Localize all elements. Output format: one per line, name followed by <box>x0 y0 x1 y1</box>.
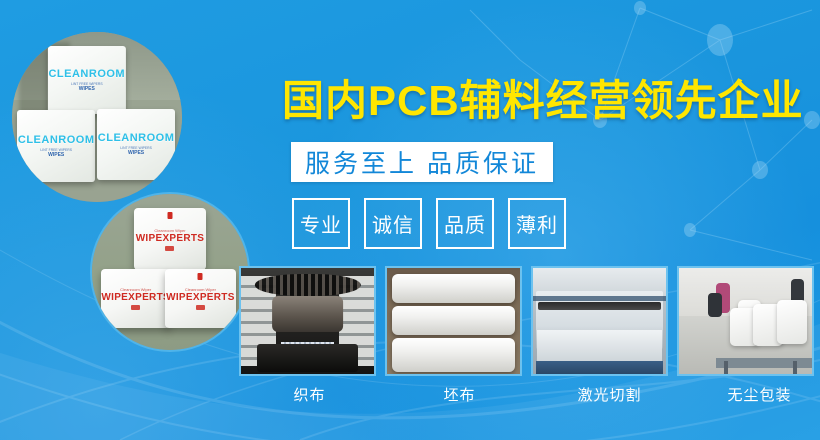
pack-line2: WIPES <box>128 150 144 156</box>
caption-cleanroom-packing: 无尘包装 <box>689 384 820 405</box>
fabric-roll <box>392 338 514 372</box>
banner-headline: 国内PCB辅料经营领先企业 <box>282 74 782 128</box>
pack-line2: WIPES <box>79 86 95 92</box>
pack-brand: CLEANROOM <box>18 134 95 146</box>
wipe-pack: Cleanroom Wiper WIPEXPERTS <box>165 269 235 328</box>
table-leg <box>724 361 728 374</box>
feature-tag-integrity: 诚信 <box>364 198 422 249</box>
pack-brand: CLEANROOM <box>98 132 175 144</box>
pack-logo <box>165 246 174 251</box>
promo-banner: CLEANROOM LINT FREE WIPERS WIPES CLEANRO… <box>0 0 820 440</box>
pack-top-line: Cleanroom Wiper <box>154 228 185 233</box>
caption-greige-fabric: 坯布 <box>389 384 530 405</box>
process-photo-knitting <box>239 266 376 376</box>
packing-scene <box>679 268 812 374</box>
wipe-pack: Cleanroom Wiper WIPEXPERTS <box>134 208 206 270</box>
pack-seal <box>198 273 203 280</box>
cutting-bed <box>537 330 662 366</box>
banner-subtitle-bar: 服务至上 品质保证 <box>291 142 553 182</box>
knitting-machine-scene <box>241 268 374 374</box>
pack-logo <box>196 305 205 310</box>
machine-legs <box>536 361 664 374</box>
process-photo-strip <box>239 266 814 376</box>
caption-laser-cutting: 激光切割 <box>539 384 680 405</box>
product-photo-cleanroom-wipes: CLEANROOM LINT FREE WIPERS WIPES CLEANRO… <box>12 32 182 202</box>
feature-tag-quality: 品质 <box>436 198 494 249</box>
pack-top-line: Cleanroom Wiper <box>120 287 151 292</box>
machine-dial <box>272 296 344 332</box>
pack-brand: WIPEXPERTS <box>166 292 235 303</box>
pack-brand: WIPEXPERTS <box>136 233 205 244</box>
feature-tag-professional: 专业 <box>292 198 350 249</box>
pack-seal <box>167 212 172 219</box>
machine-crown <box>254 274 360 295</box>
fabric-bale <box>777 300 806 345</box>
pack-brand: WIPEXPERTS <box>101 292 170 303</box>
caption-knitting: 织布 <box>239 384 380 405</box>
worker-figure <box>708 293 721 316</box>
wipe-pack: CLEANROOM LINT FREE WIPERS WIPES <box>48 46 126 114</box>
feature-tag-low-margin: 薄利 <box>508 198 566 249</box>
wipe-pack: CLEANROOM LINT FREE WIPERS WIPES <box>17 110 95 181</box>
process-photo-greige-fabric <box>385 266 522 376</box>
pack-logo <box>131 305 140 310</box>
cleanroom-scene: CLEANROOM LINT FREE WIPERS WIPES CLEANRO… <box>12 32 182 202</box>
packing-table <box>716 358 812 368</box>
banner-subtitle: 服务至上 品质保证 <box>305 144 539 180</box>
pack-brand: CLEANROOM <box>48 68 125 80</box>
laser-gantry <box>538 302 660 310</box>
pack-top-line: Cleanroom Wiper <box>185 287 216 292</box>
wipexperts-scene: Cleanroom Wiper WIPEXPERTS Cleanroom Wip… <box>92 194 248 350</box>
feature-tag-list: 专业 诚信 品质 薄利 <box>292 198 566 249</box>
fabric-roll <box>392 306 514 335</box>
machine-base <box>257 344 358 372</box>
pack-line2: WIPES <box>48 152 64 158</box>
table-leg <box>793 361 797 374</box>
process-photo-cleanroom-packing <box>677 266 814 376</box>
process-caption-list: 织布 坯布 激光切割 无尘包装 <box>239 384 820 405</box>
laser-cutter-scene <box>533 268 666 374</box>
fabric-roll-scene <box>387 268 520 374</box>
fabric-roll <box>392 274 514 303</box>
wipe-pack: Cleanroom Wiper WIPEXPERTS <box>101 269 170 328</box>
product-photo-wipexperts-wipes: Cleanroom Wiper WIPEXPERTS Cleanroom Wip… <box>90 192 250 352</box>
machine-rail <box>533 296 666 301</box>
wipe-pack: CLEANROOM LINT FREE WIPERS WIPES <box>97 109 175 180</box>
process-photo-laser-cutting <box>531 266 668 376</box>
